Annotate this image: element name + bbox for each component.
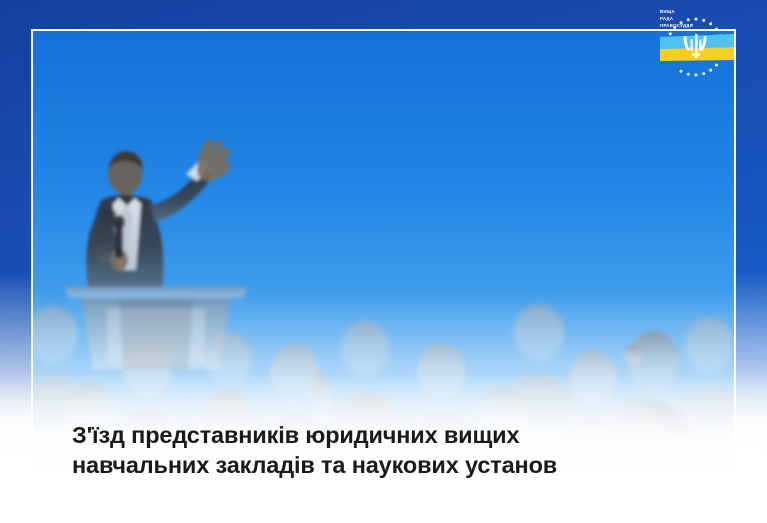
banner-title-line-1: З'їзд представників юридичних вищих	[72, 420, 692, 451]
logo-line-1: ВИЩА	[660, 9, 675, 14]
logo-line-2: РАДА	[660, 16, 673, 21]
podium	[63, 286, 249, 370]
logo-line-3: ПРАВОСУДДЯ	[660, 23, 693, 28]
banner-image: ВИЩА РАДА ПРАВОСУДДЯ З'їзд представників…	[0, 0, 767, 523]
high-council-of-justice-logo: ВИЩА РАДА ПРАВОСУДДЯ	[648, 3, 740, 83]
speaker-body	[86, 138, 231, 288]
speaker-silhouette	[41, 136, 271, 371]
banner-title-line-2: навчальних закладів та наукових установ	[72, 450, 692, 481]
banner-title: З'їзд представників юридичних вищих навч…	[72, 420, 692, 481]
